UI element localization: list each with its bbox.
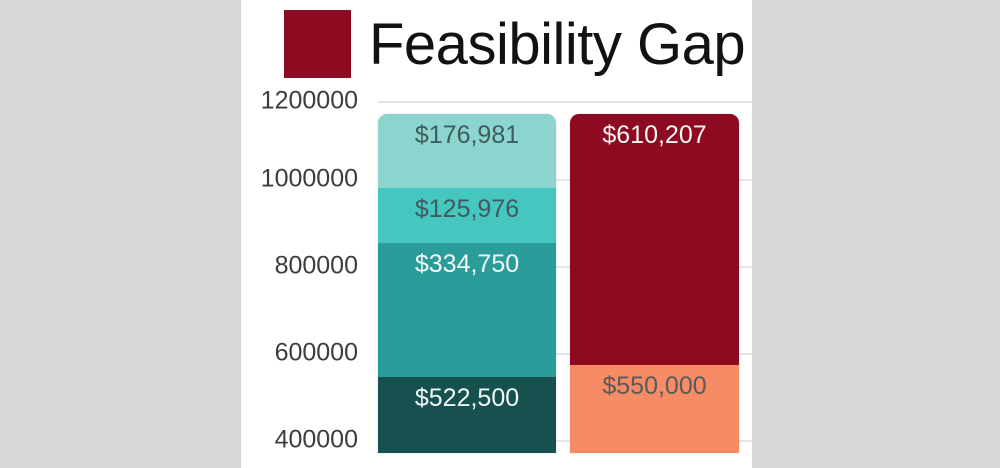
- bar-segment[interactable]: $125,976: [378, 188, 556, 243]
- page-title: Feasibility Gap: [369, 6, 749, 84]
- y-axis-tick-label: 1200000: [241, 87, 358, 116]
- legend-swatch-icon: [284, 10, 351, 78]
- chart-panel: Feasibility Gap 120000010000008000006000…: [241, 0, 752, 468]
- plot-area: 12000001000000800000600000400000 $176,98…: [241, 92, 752, 468]
- gridline: [378, 101, 752, 103]
- bar-segment-value-label: $610,207: [570, 121, 739, 150]
- y-axis-tick-label: 1000000: [241, 165, 358, 194]
- available-funding-bar[interactable]: $610,207$550,000: [570, 114, 739, 453]
- bar-segment-value-label: $550,000: [570, 372, 739, 401]
- project-costs-bar[interactable]: $176,981$125,976$334,750$522,500: [378, 114, 556, 453]
- bar-segment[interactable]: $550,000: [570, 365, 739, 453]
- bar-segment[interactable]: $176,981: [378, 114, 556, 188]
- y-axis-tick-label: 600000: [241, 339, 358, 368]
- bar-segment[interactable]: $610,207: [570, 114, 739, 365]
- bar-segment-value-label: $522,500: [378, 384, 556, 413]
- y-axis-tick-label: 400000: [241, 426, 358, 455]
- y-axis-tick-label: 800000: [241, 252, 358, 281]
- bar-segment-value-label: $176,981: [378, 121, 556, 150]
- bar-segment-value-label: $334,750: [378, 250, 556, 279]
- chart-header: Feasibility Gap: [241, 0, 752, 92]
- bar-segment[interactable]: $334,750: [378, 243, 556, 377]
- bar-segment-value-label: $125,976: [378, 195, 556, 224]
- bar-segment[interactable]: $522,500: [378, 377, 556, 453]
